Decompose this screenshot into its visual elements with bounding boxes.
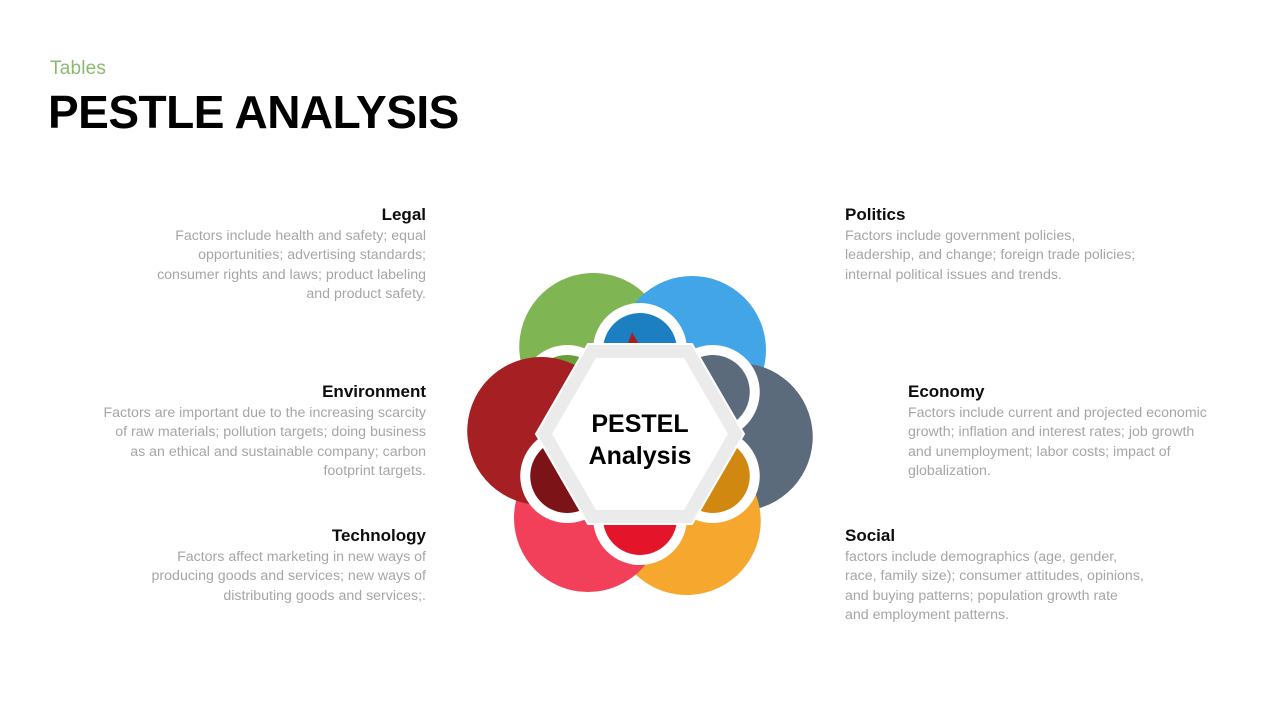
segment-text-legal: Legal Factors include health and safety;…: [140, 204, 426, 304]
segment-text-economy: Economy Factors include current and proj…: [908, 381, 1208, 481]
center-label-line2: Analysis: [589, 442, 692, 470]
segment-body-economy: Factors include current and projected ec…: [908, 404, 1208, 481]
segment-text-politics: Politics Factors include government poli…: [845, 204, 1145, 285]
pestel-wheel-diagram: PESTEL Analysis: [390, 188, 890, 660]
segment-body-technology: Factors affect marketing in new ways of …: [132, 548, 426, 606]
segment-body-environment: Factors are important due to the increas…: [100, 404, 426, 481]
segment-heading-politics: Politics: [845, 204, 1145, 225]
segment-heading-social: Social: [845, 525, 1145, 546]
segment-text-social: Social factors include demographics (age…: [845, 525, 1145, 625]
page-title: PESTLE ANALYSIS: [48, 85, 459, 139]
slide-eyebrow-label: Tables: [50, 58, 106, 80]
segment-body-legal: Factors include health and safety; equal…: [140, 227, 426, 304]
segment-text-technology: Technology Factors affect marketing in n…: [132, 525, 426, 606]
segment-text-environment: Environment Factors are important due to…: [100, 381, 426, 481]
slide-canvas: Tables PESTLE ANALYSIS Legal Factors inc…: [0, 0, 1280, 720]
petal-group: PESTEL Analysis: [440, 246, 840, 622]
segment-heading-legal: Legal: [140, 204, 426, 225]
segment-heading-technology: Technology: [132, 525, 426, 546]
segment-body-politics: Factors include government policies, lea…: [845, 227, 1145, 285]
segment-heading-environment: Environment: [100, 381, 426, 402]
segment-body-social: factors include demographics (age, gende…: [845, 548, 1145, 625]
segment-heading-economy: Economy: [908, 381, 1208, 402]
center-label-line1: PESTEL: [591, 410, 688, 438]
